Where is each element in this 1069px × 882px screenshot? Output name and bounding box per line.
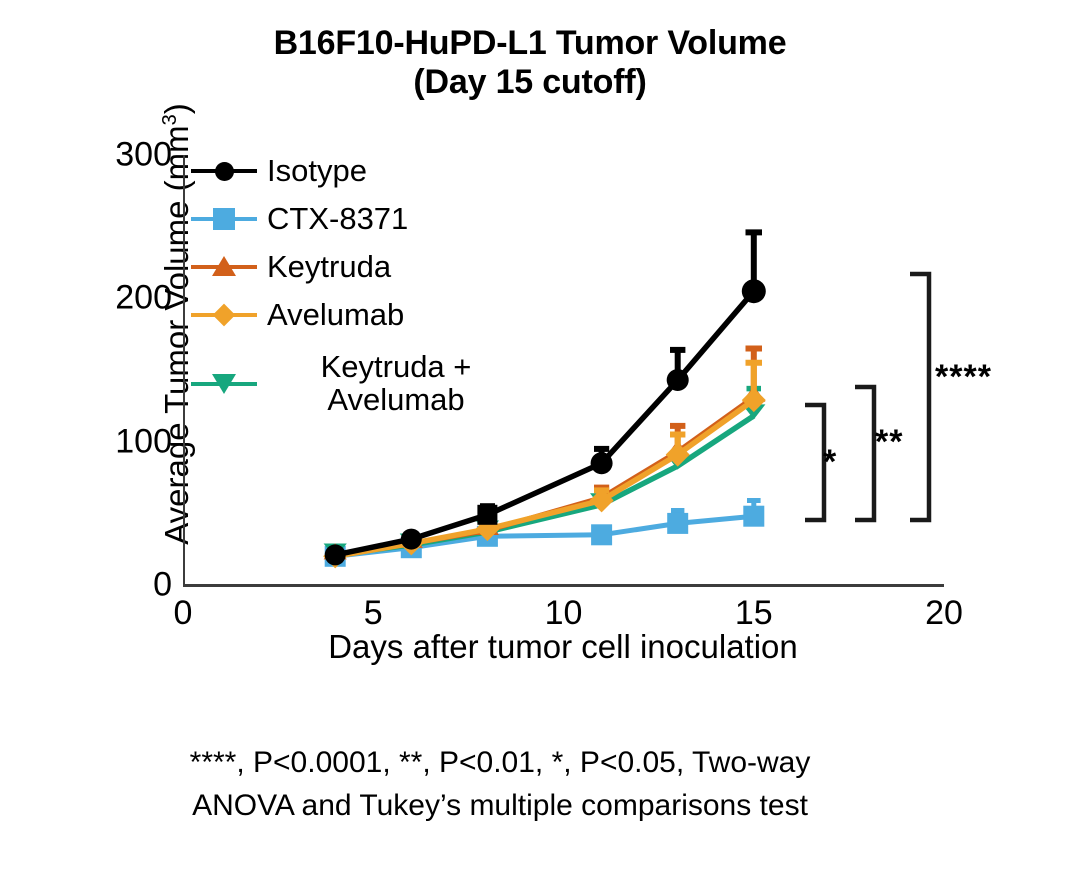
legend-label-avelumab: Avelumab: [267, 299, 404, 332]
legend-item-keytruda-plus-avelumab[interactable]: Keytruda + Avelumab: [191, 339, 531, 429]
legend-item-keytruda[interactable]: Keytruda: [191, 243, 531, 291]
plot-area: Average Tumor Volume (mm3) 0 100 200 300…: [183, 155, 944, 585]
significance-label-1: *: [823, 445, 837, 479]
significance-label-3: ****: [935, 360, 992, 394]
legend-item-ctx-8371[interactable]: CTX-8371: [191, 195, 531, 243]
y-tick-label-300: 300: [115, 136, 172, 175]
chart-title-line-2: (Day 15 cutoff): [90, 63, 970, 102]
legend-item-isotype[interactable]: Isotype: [191, 147, 531, 195]
figure-caption-line-1: ****, P<0.0001, **, P<0.01, *, P<0.05, T…: [60, 742, 940, 785]
y-tick-label-0: 0: [153, 566, 172, 605]
significance-bracket-1: [805, 405, 824, 520]
significance-label-2: **: [875, 425, 903, 459]
legend-marker-circle-icon: [191, 157, 257, 185]
legend-marker-triangle-down-icon: [191, 370, 257, 398]
legend-label-isotype: Isotype: [267, 155, 367, 188]
significance-bracket-2: [855, 387, 874, 520]
figure-caption: ****, P<0.0001, **, P<0.01, *, P<0.05, T…: [60, 742, 940, 827]
y-tick-label-200: 200: [115, 279, 172, 318]
chart-title: B16F10-HuPD-L1 Tumor Volume (Day 15 cuto…: [90, 24, 970, 102]
legend: Isotype CTX-8371 Keytruda: [191, 147, 531, 429]
significance-bracket-3: [910, 274, 929, 520]
y-tick-label-100: 100: [115, 422, 172, 461]
chart-title-line-1: B16F10-HuPD-L1 Tumor Volume: [90, 24, 970, 63]
legend-label-ctx-8371: CTX-8371: [267, 203, 408, 236]
legend-label-keytruda: Keytruda: [267, 251, 391, 284]
y-axis-label-paren: ): [158, 103, 195, 114]
y-axis-label-exponent: 3: [159, 114, 181, 125]
figure-root: B16F10-HuPD-L1 Tumor Volume (Day 15 cuto…: [0, 0, 1069, 882]
legend-marker-triangle-up-icon: [191, 253, 257, 281]
series-ctx-8371: [325, 501, 765, 567]
legend-label-keytruda-plus-avelumab: Keytruda + Avelumab: [267, 351, 525, 417]
figure-caption-line-2: ANOVA and Tukey’s multiple comparisons t…: [60, 785, 940, 828]
legend-marker-square-icon: [191, 205, 257, 233]
x-axis-label: Days after tumor cell inoculation: [123, 628, 1003, 666]
legend-marker-diamond-icon: [191, 301, 257, 329]
legend-item-avelumab[interactable]: Avelumab: [191, 291, 531, 339]
